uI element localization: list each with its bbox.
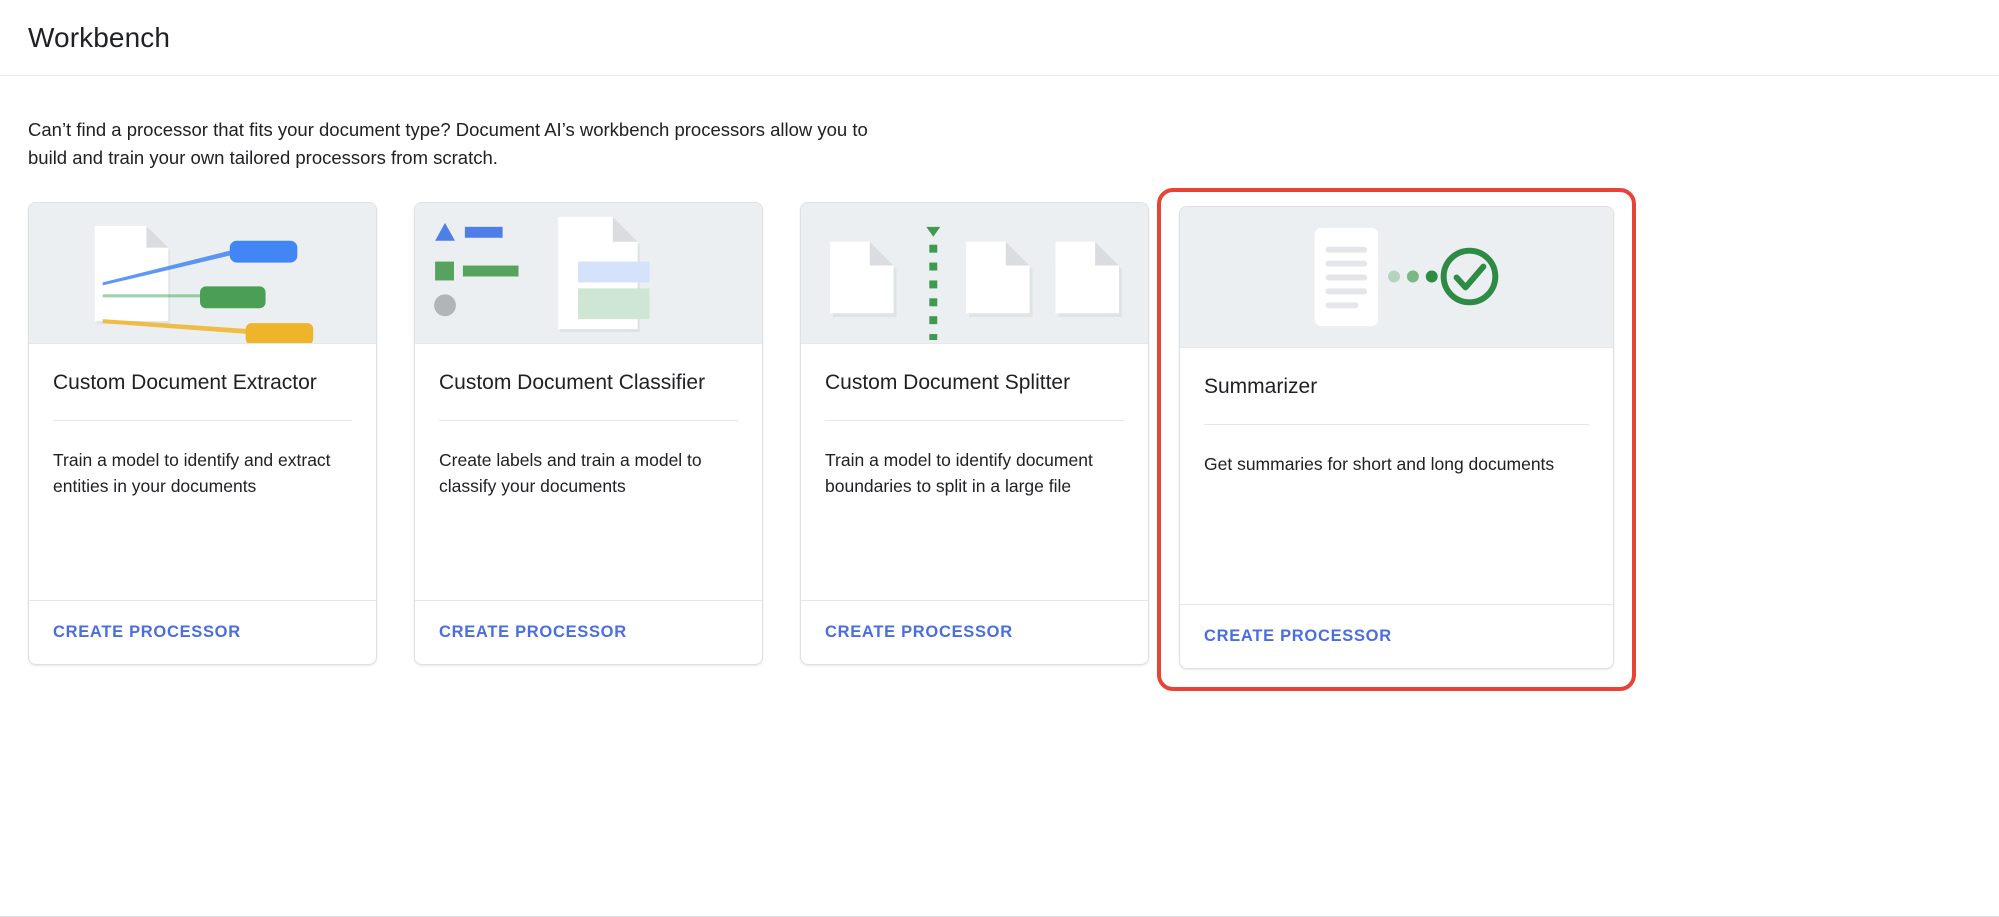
- processor-card-grid: Custom Document Extractor Train a model …: [0, 173, 1999, 691]
- card-title: Custom Document Splitter: [825, 370, 1124, 420]
- card-art-splitter: [801, 203, 1148, 344]
- card-body-extractor: Custom Document Extractor Train a model …: [29, 344, 376, 600]
- document-summary-check-icon: [1180, 207, 1613, 347]
- card-footer-extractor: CREATE PROCESSOR: [29, 600, 376, 664]
- page-title: Workbench: [28, 22, 170, 54]
- card-title: Summarizer: [1204, 374, 1589, 424]
- card-art-extractor: [29, 203, 376, 344]
- card-body-splitter: Custom Document Splitter Train a model t…: [801, 344, 1148, 600]
- card-divider: [439, 420, 738, 421]
- card-footer-summarizer: CREATE PROCESSOR: [1180, 604, 1613, 668]
- card-title: Custom Document Extractor: [53, 370, 352, 420]
- card-divider: [825, 420, 1124, 421]
- workbench-page: Workbench Can’t find a processor that fi…: [0, 0, 1999, 917]
- processor-card-extractor[interactable]: Custom Document Extractor Train a model …: [28, 202, 377, 665]
- create-processor-button[interactable]: CREATE PROCESSOR: [825, 623, 1013, 642]
- create-processor-button[interactable]: CREATE PROCESSOR: [53, 623, 241, 642]
- card-art-summarizer: [1180, 207, 1613, 348]
- card-art-classifier: [415, 203, 762, 344]
- create-processor-button[interactable]: CREATE PROCESSOR: [439, 623, 627, 642]
- card-footer-splitter: CREATE PROCESSOR: [801, 600, 1148, 664]
- page-header: Workbench: [0, 0, 1999, 76]
- card-footer-classifier: CREATE PROCESSOR: [415, 600, 762, 664]
- card-slot-classifier: Custom Document Classifier Create labels…: [414, 202, 763, 665]
- card-slot-extractor: Custom Document Extractor Train a model …: [28, 202, 377, 665]
- document-split-icon: [801, 203, 1148, 343]
- processor-card-splitter[interactable]: Custom Document Splitter Train a model t…: [800, 202, 1149, 665]
- card-title: Custom Document Classifier: [439, 370, 738, 420]
- create-processor-button[interactable]: CREATE PROCESSOR: [1204, 627, 1392, 646]
- processor-card-classifier[interactable]: Custom Document Classifier Create labels…: [414, 202, 763, 665]
- card-body-summarizer: Summarizer Get summaries for short and l…: [1180, 348, 1613, 604]
- card-description: Get summaries for short and long documen…: [1204, 451, 1589, 478]
- card-slot-splitter: Custom Document Splitter Train a model t…: [800, 202, 1149, 665]
- card-divider: [1204, 424, 1589, 425]
- document-label-classification-icon: [415, 203, 762, 343]
- intro-text: Can’t find a processor that fits your do…: [28, 116, 878, 173]
- card-description: Train a model to identify and extract en…: [53, 447, 352, 500]
- processor-card-summarizer[interactable]: Summarizer Get summaries for short and l…: [1179, 206, 1614, 669]
- card-divider: [53, 420, 352, 421]
- document-entity-extraction-icon: [29, 203, 376, 343]
- card-body-classifier: Custom Document Classifier Create labels…: [415, 344, 762, 600]
- intro-section: Can’t find a processor that fits your do…: [0, 76, 1999, 173]
- card-description: Create labels and train a model to class…: [439, 447, 738, 500]
- card-slot-summarizer-highlighted: Summarizer Get summaries for short and l…: [1157, 188, 1636, 691]
- card-description: Train a model to identify document bound…: [825, 447, 1124, 500]
